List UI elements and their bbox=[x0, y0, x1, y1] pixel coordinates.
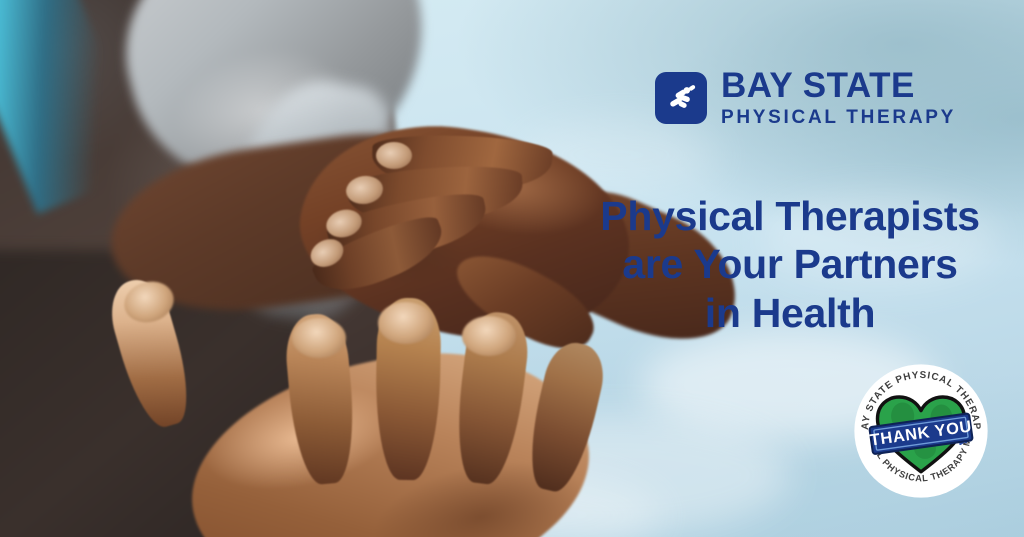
headline-line-1: Physical Therapists bbox=[560, 192, 1020, 240]
running-figure-icon bbox=[655, 72, 707, 124]
promotional-banner: BAY STATE PHYSICAL THERAPY Physical Ther… bbox=[0, 0, 1024, 537]
headline-line-2: are Your Partners bbox=[560, 240, 1020, 288]
logo-name-line1: BAY STATE bbox=[721, 68, 956, 103]
bay-state-logo[interactable]: BAY STATE PHYSICAL THERAPY bbox=[655, 68, 956, 127]
logo-name-line2: PHYSICAL THERAPY bbox=[721, 108, 956, 127]
thank-you-badge: BAY STATE PHYSICAL THERAPY NATIONAL PHYS… bbox=[853, 363, 989, 499]
headline: Physical Therapists are Your Partners in… bbox=[560, 192, 1020, 337]
headline-line-3: in Health bbox=[560, 289, 1020, 337]
